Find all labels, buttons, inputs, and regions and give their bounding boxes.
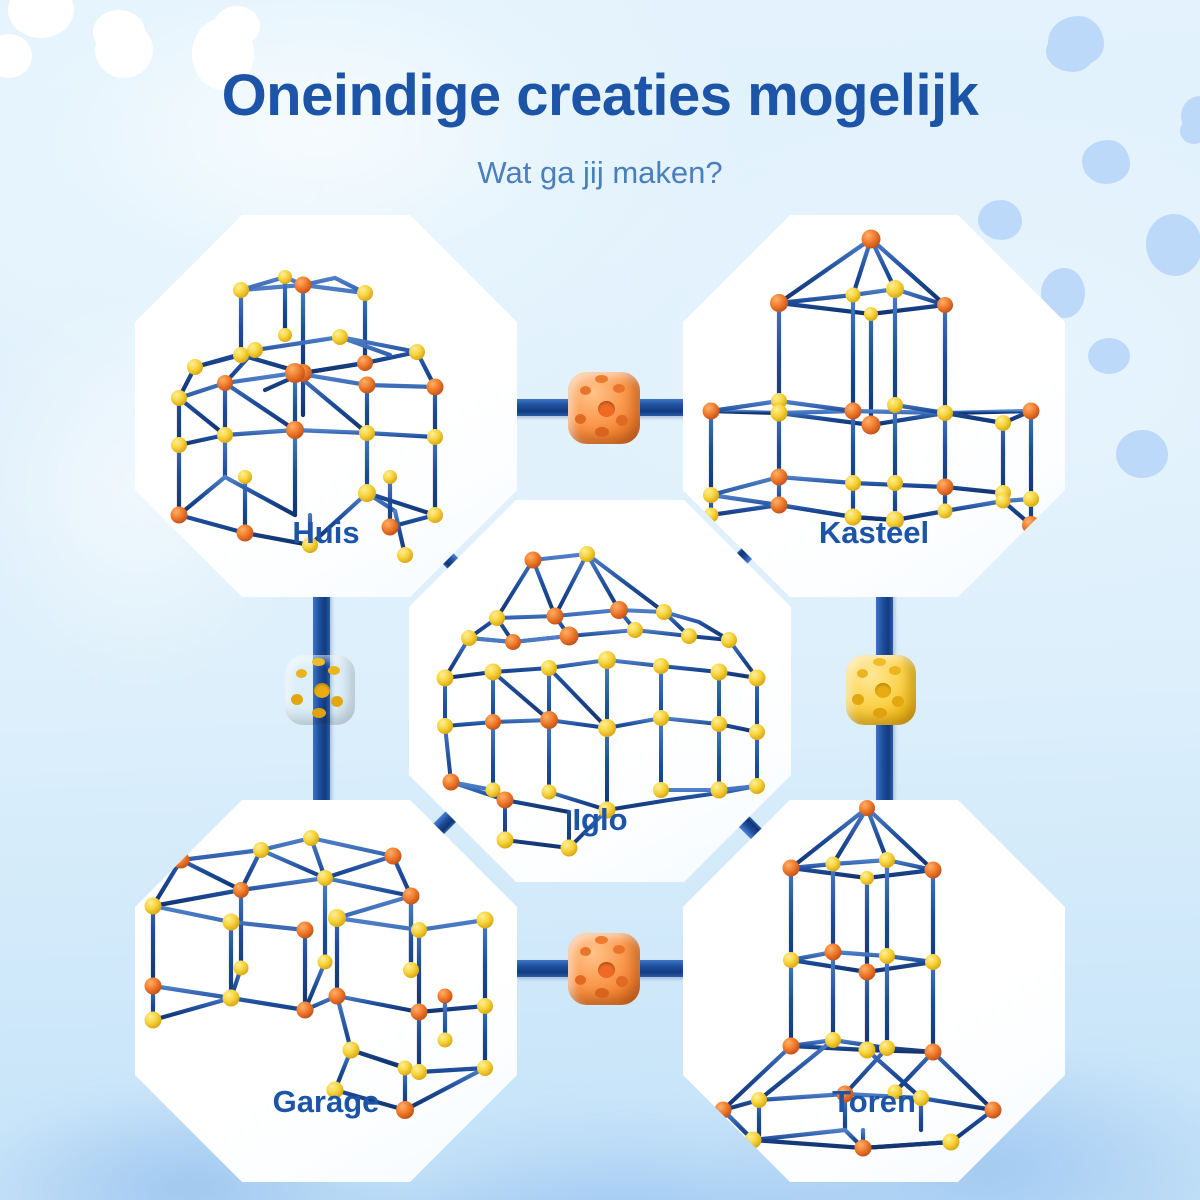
- connector-ball-yellow-right: [846, 655, 916, 725]
- blob-decoration: [978, 200, 1022, 240]
- garage-structure-figure: [135, 800, 517, 1182]
- poster-canvas: Oneindige creaties mogelijk Wat ga jij m…: [0, 0, 1200, 1200]
- card-toren[interactable]: Toren: [683, 800, 1065, 1182]
- connector-ball-orange-top: [568, 372, 640, 444]
- blob-decoration: [1088, 338, 1130, 374]
- connector-ball-yellow-left: [285, 655, 355, 725]
- card-label-toren: Toren: [683, 1084, 1065, 1120]
- card-kasteel[interactable]: Kasteel: [683, 215, 1065, 597]
- card-huis[interactable]: Huis: [135, 215, 517, 597]
- card-label-huis: Huis: [135, 515, 517, 551]
- blob-decoration: [1146, 214, 1200, 276]
- blob-decoration: [1116, 430, 1168, 478]
- tower-structure-figure: [683, 800, 1065, 1182]
- connector-ball-orange-bottom: [568, 933, 640, 1005]
- card-iglo[interactable]: Iglo: [409, 500, 791, 882]
- card-garage[interactable]: Garage: [135, 800, 517, 1182]
- page-subtitle: Wat ga jij maken?: [0, 155, 1200, 191]
- card-label-garage: Garage: [135, 1084, 517, 1120]
- page-title: Oneindige creaties mogelijk: [0, 66, 1200, 127]
- card-label-kasteel: Kasteel: [683, 515, 1065, 551]
- bubble-decoration: [214, 6, 260, 46]
